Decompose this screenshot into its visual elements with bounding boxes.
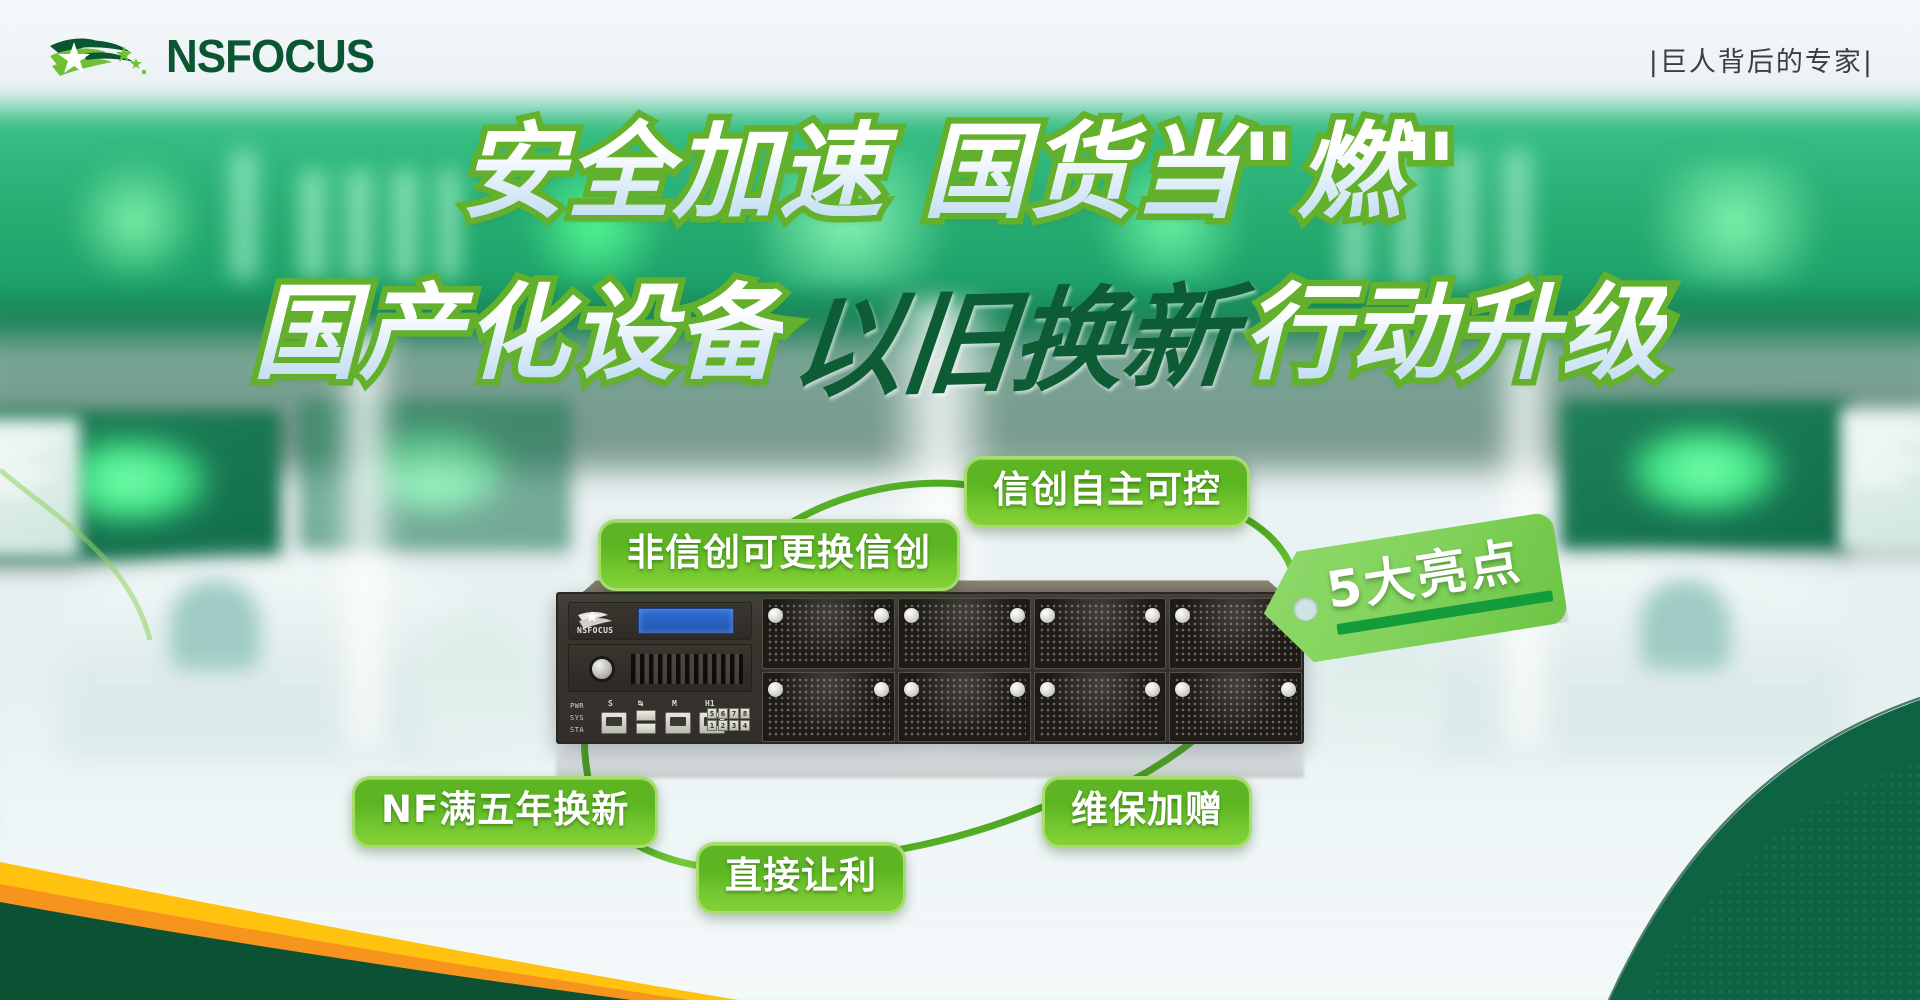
port-num: 7 [729,708,739,719]
port-num: 5 [707,708,717,719]
headline-line2-suffix: 行动升级 [1243,273,1667,394]
server-nsfocus-logo-icon: NSFOCUS [574,607,632,635]
led-sta: STA [570,724,584,736]
badge-nf-five-year-renew[interactable]: NF满五年换新 [352,776,658,848]
control-room-monitor [0,418,80,558]
badge-non-xinchuang-replace[interactable]: 非信创可更换信创 [598,519,960,591]
led-pwr: PWR [570,700,584,712]
module-bay [898,598,1031,669]
usb-icon: ↹ [638,699,643,709]
badge-direct-discount[interactable]: 直接让利 [696,842,906,914]
server-io-panel: PWR SYS STA S ↹ M H1 5 6 [568,696,752,742]
module-bay [1034,672,1167,743]
svg-text:NSFOCUS: NSFOCUS [577,626,614,635]
control-room-monitor [1560,400,1850,550]
numbered-port-block: 5 6 7 8 1 2 3 4 [707,708,750,731]
port-num: 2 [718,720,728,731]
port-num: 1 [707,720,717,731]
module-bay [1169,672,1302,743]
headline-line1-text: 安全加速 国货当"燃" [461,112,1460,233]
banner-header: NSFOCUS |巨人背后的专家| [0,0,1920,104]
led-sys: SYS [570,712,584,724]
server-front-panel: NSFOCUS PWR SYS STA S [556,592,1304,744]
headline-line2-prefix: 国产化设备 [253,273,783,394]
usb-port-lower [636,723,656,734]
server-status-leds: PWR SYS STA [570,700,584,736]
port-num: 8 [740,708,750,719]
brand-name: NSFOCUS [166,31,374,84]
brand-tagline: |巨人背后的专家| [1649,40,1874,79]
headline-line-1: 安全加速 国货当"燃" 安全加速 国货当"燃" [0,112,1920,244]
server-module-bays [762,598,1302,742]
control-room-monitor [1840,408,1920,550]
module-bay [762,672,895,743]
drive-lock-knob-icon[interactable] [589,656,615,682]
server-drive-bay [568,644,752,692]
badge-xinchuang-autonomous[interactable]: 信创自主可控 [964,456,1250,528]
port-num: 3 [729,720,739,731]
console-port-s [601,712,627,734]
control-room-chair [170,580,260,670]
port-label-h1: H1 [705,699,715,708]
headline-line-2: 国产化设备 国产化设备 以旧换新 行动升级 行动升级 [0,252,1920,388]
port-num: 6 [718,708,728,719]
usb-port-upper [636,710,656,721]
mgmt-port-m [665,712,691,734]
brand-logo[interactable]: NSFOCUS [44,32,374,82]
server-lcd-display [638,608,734,634]
port-label-m: M [672,699,677,708]
module-bay [762,598,895,669]
drive-vent-mesh [631,654,743,684]
control-room-chair [1640,580,1730,670]
server-appliance: NSFOCUS PWR SYS STA S [556,592,1304,772]
module-bay [1034,598,1167,669]
server-reflection [556,744,1304,778]
port-label-s: S [608,699,613,708]
port-num: 4 [740,720,750,731]
promo-banner: NSFOCUS |巨人背后的专家| 安全加速 国货当"燃" 安全加速 国货当"燃… [0,0,1920,1000]
nsfocus-flag-star-logo-icon [44,32,152,82]
headline-block: 安全加速 国货当"燃" 安全加速 国货当"燃" 国产化设备 国产化设备 以旧换新… [0,112,1920,388]
headline-brush-calligraphy: 以旧换新 [785,246,1242,419]
badge-maintenance-bonus[interactable]: 维保加赠 [1042,776,1252,848]
server-left-section: NSFOCUS PWR SYS STA S [562,598,758,740]
module-bay [898,672,1031,743]
server-lcd-row: NSFOCUS [568,602,752,640]
